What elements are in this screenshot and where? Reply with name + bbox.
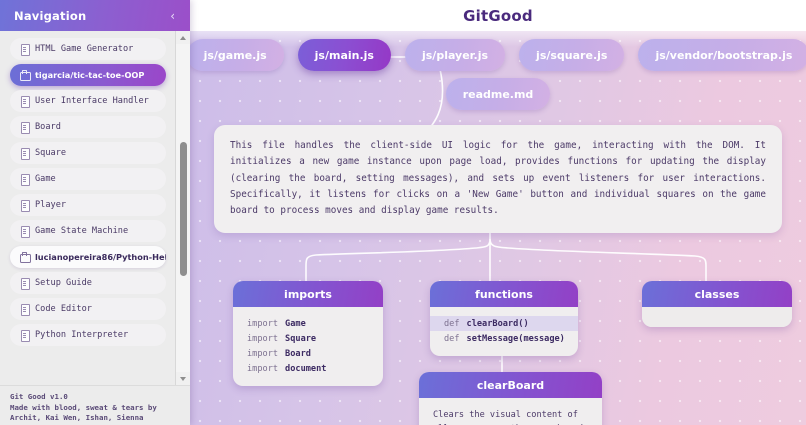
document-icon bbox=[20, 174, 29, 184]
sidebar-item-label: Square bbox=[35, 148, 66, 158]
node-card-classes-title[interactable]: classes bbox=[642, 281, 792, 307]
file-pill-rows: js/game.jsjs/main.jsjs/player.jsjs/squar… bbox=[190, 39, 806, 110]
sidebar-item-label: Player bbox=[35, 200, 66, 210]
node-row-imports-1[interactable]: importSquare bbox=[233, 331, 383, 346]
node-row-name: document bbox=[285, 364, 326, 374]
app-root: Navigation ‹ HTML Game Generatortigarcia… bbox=[0, 0, 806, 425]
sidebar-item-label: Python Interpreter bbox=[35, 330, 128, 340]
node-row-keyword: def bbox=[444, 319, 460, 329]
node-card-imports[interactable]: imports importGameimportSquareimportBoar… bbox=[233, 281, 383, 386]
sidebar-scrollbar[interactable] bbox=[175, 31, 190, 385]
node-row-name: Square bbox=[285, 334, 316, 344]
sidebar-scroll-region: HTML Game Generatortigarcia/tic-tac-toe-… bbox=[0, 31, 190, 385]
folder-icon bbox=[20, 252, 29, 262]
document-icon bbox=[20, 44, 29, 54]
document-icon bbox=[20, 200, 29, 210]
file-pill-row1-4[interactable]: js/vendor/bootstrap.js bbox=[638, 39, 806, 71]
node-card-functions[interactable]: functions defclearBoard()defsetMessage(m… bbox=[430, 281, 578, 356]
node-row-functions-0[interactable]: defclearBoard() bbox=[430, 316, 578, 331]
footer-credits-line-2: Archit, Kai Wen, Ishan, Sienna bbox=[10, 413, 180, 424]
footer-version: Git Good v1.0 bbox=[10, 392, 180, 403]
document-icon bbox=[20, 96, 29, 106]
node-card-detail-text: Clears the visual content of all squares… bbox=[419, 398, 602, 425]
node-card-functions-body: defclearBoard()defsetMessage(message) bbox=[430, 307, 578, 356]
page-title: GitGood bbox=[463, 7, 533, 25]
sidebar-footer: Git Good v1.0 Made with blood, sweat & t… bbox=[0, 385, 190, 425]
top-bar: GitGood bbox=[190, 0, 806, 31]
graph-canvas: js/game.jsjs/main.jsjs/player.jsjs/squar… bbox=[190, 31, 806, 425]
triangle-up-icon[interactable] bbox=[176, 31, 191, 44]
sidebar-item-9[interactable]: Setup Guide bbox=[10, 272, 166, 294]
node-row-name: Board bbox=[285, 349, 311, 359]
sidebar-item-4[interactable]: Square bbox=[10, 142, 166, 164]
sidebar: Navigation ‹ HTML Game Generatortigarcia… bbox=[0, 0, 190, 425]
scrollbar-track[interactable] bbox=[176, 44, 191, 372]
node-row-imports-2[interactable]: importBoard bbox=[233, 346, 383, 361]
sidebar-item-8[interactable]: lucianopereira86/Python-Hello... bbox=[10, 246, 166, 268]
node-card-imports-title[interactable]: imports bbox=[233, 281, 383, 307]
sidebar-item-label: tigarcia/tic-tac-toe-OOP bbox=[35, 70, 144, 80]
node-row-keyword: import bbox=[247, 364, 278, 374]
node-card-classes[interactable]: classes bbox=[642, 281, 792, 327]
footer-credits-line-1: Made with blood, sweat & tears by bbox=[10, 403, 180, 414]
document-icon bbox=[20, 304, 29, 314]
sidebar-item-6[interactable]: Player bbox=[10, 194, 166, 216]
sidebar-item-label: Setup Guide bbox=[35, 278, 92, 288]
document-icon bbox=[20, 226, 29, 236]
sidebar-item-3[interactable]: Board bbox=[10, 116, 166, 138]
sidebar-item-label: lucianopereira86/Python-Hello... bbox=[35, 252, 166, 262]
sidebar-nav-list: HTML Game Generatortigarcia/tic-tac-toe-… bbox=[0, 31, 175, 385]
scrollbar-thumb[interactable] bbox=[180, 142, 187, 276]
sidebar-header: Navigation ‹ bbox=[0, 0, 190, 31]
file-pill-row1-3[interactable]: js/square.js bbox=[519, 39, 624, 71]
triangle-down-icon[interactable] bbox=[176, 372, 191, 385]
document-icon bbox=[20, 122, 29, 132]
main-panel: GitGood js/game.jsjs/main.jsjs/player.js… bbox=[190, 0, 806, 425]
file-pill-row1-1[interactable]: js/main.js bbox=[298, 39, 391, 71]
node-row-name: setMessage(message) bbox=[467, 334, 565, 344]
sidebar-item-label: User Interface Handler bbox=[35, 96, 149, 106]
node-card-classes-body bbox=[642, 307, 792, 327]
node-row-functions-1[interactable]: defsetMessage(message) bbox=[430, 331, 578, 346]
sidebar-item-label: Game bbox=[35, 174, 56, 184]
node-row-keyword: import bbox=[247, 319, 278, 329]
document-icon bbox=[20, 148, 29, 158]
sidebar-item-11[interactable]: Python Interpreter bbox=[10, 324, 166, 346]
sidebar-item-0[interactable]: HTML Game Generator bbox=[10, 38, 166, 60]
sidebar-item-label: Code Editor bbox=[35, 304, 92, 314]
file-pill-row1-0[interactable]: js/game.js bbox=[190, 39, 284, 71]
node-row-imports-0[interactable]: importGame bbox=[233, 316, 383, 331]
folder-icon bbox=[20, 70, 29, 80]
node-row-name: clearBoard() bbox=[467, 319, 529, 329]
sidebar-item-7[interactable]: Game State Machine bbox=[10, 220, 166, 242]
file-pill-row1-2[interactable]: js/player.js bbox=[405, 39, 505, 71]
sidebar-item-10[interactable]: Code Editor bbox=[10, 298, 166, 320]
chevron-left-icon[interactable]: ‹ bbox=[167, 8, 178, 24]
node-row-keyword: import bbox=[247, 349, 278, 359]
file-pill-row-secondary: readme.md bbox=[446, 78, 551, 110]
node-row-name: Game bbox=[285, 319, 306, 329]
sidebar-item-2[interactable]: User Interface Handler bbox=[10, 90, 166, 112]
document-icon bbox=[20, 278, 29, 288]
file-pill-row2-0[interactable]: readme.md bbox=[446, 78, 551, 110]
sidebar-item-1[interactable]: tigarcia/tic-tac-toe-OOP bbox=[10, 64, 166, 86]
document-icon bbox=[20, 330, 29, 340]
node-card-imports-body: importGameimportSquareimportBoardimportd… bbox=[233, 307, 383, 386]
node-card-detail[interactable]: clearBoard Clears the visual content of … bbox=[419, 372, 602, 425]
node-row-imports-3[interactable]: importdocument bbox=[233, 361, 383, 376]
sidebar-item-label: Board bbox=[35, 122, 61, 132]
node-card-detail-title[interactable]: clearBoard bbox=[419, 372, 602, 398]
sidebar-item-label: HTML Game Generator bbox=[35, 44, 133, 54]
sidebar-item-label: Game State Machine bbox=[35, 226, 128, 236]
file-pill-row-primary: js/game.jsjs/main.jsjs/player.jsjs/squar… bbox=[190, 39, 806, 71]
sidebar-title: Navigation bbox=[14, 9, 86, 23]
file-description-box: This file handles the client-side UI log… bbox=[214, 125, 782, 233]
node-card-functions-title[interactable]: functions bbox=[430, 281, 578, 307]
node-row-keyword: def bbox=[444, 334, 460, 344]
sidebar-item-5[interactable]: Game bbox=[10, 168, 166, 190]
node-row-keyword: import bbox=[247, 334, 278, 344]
